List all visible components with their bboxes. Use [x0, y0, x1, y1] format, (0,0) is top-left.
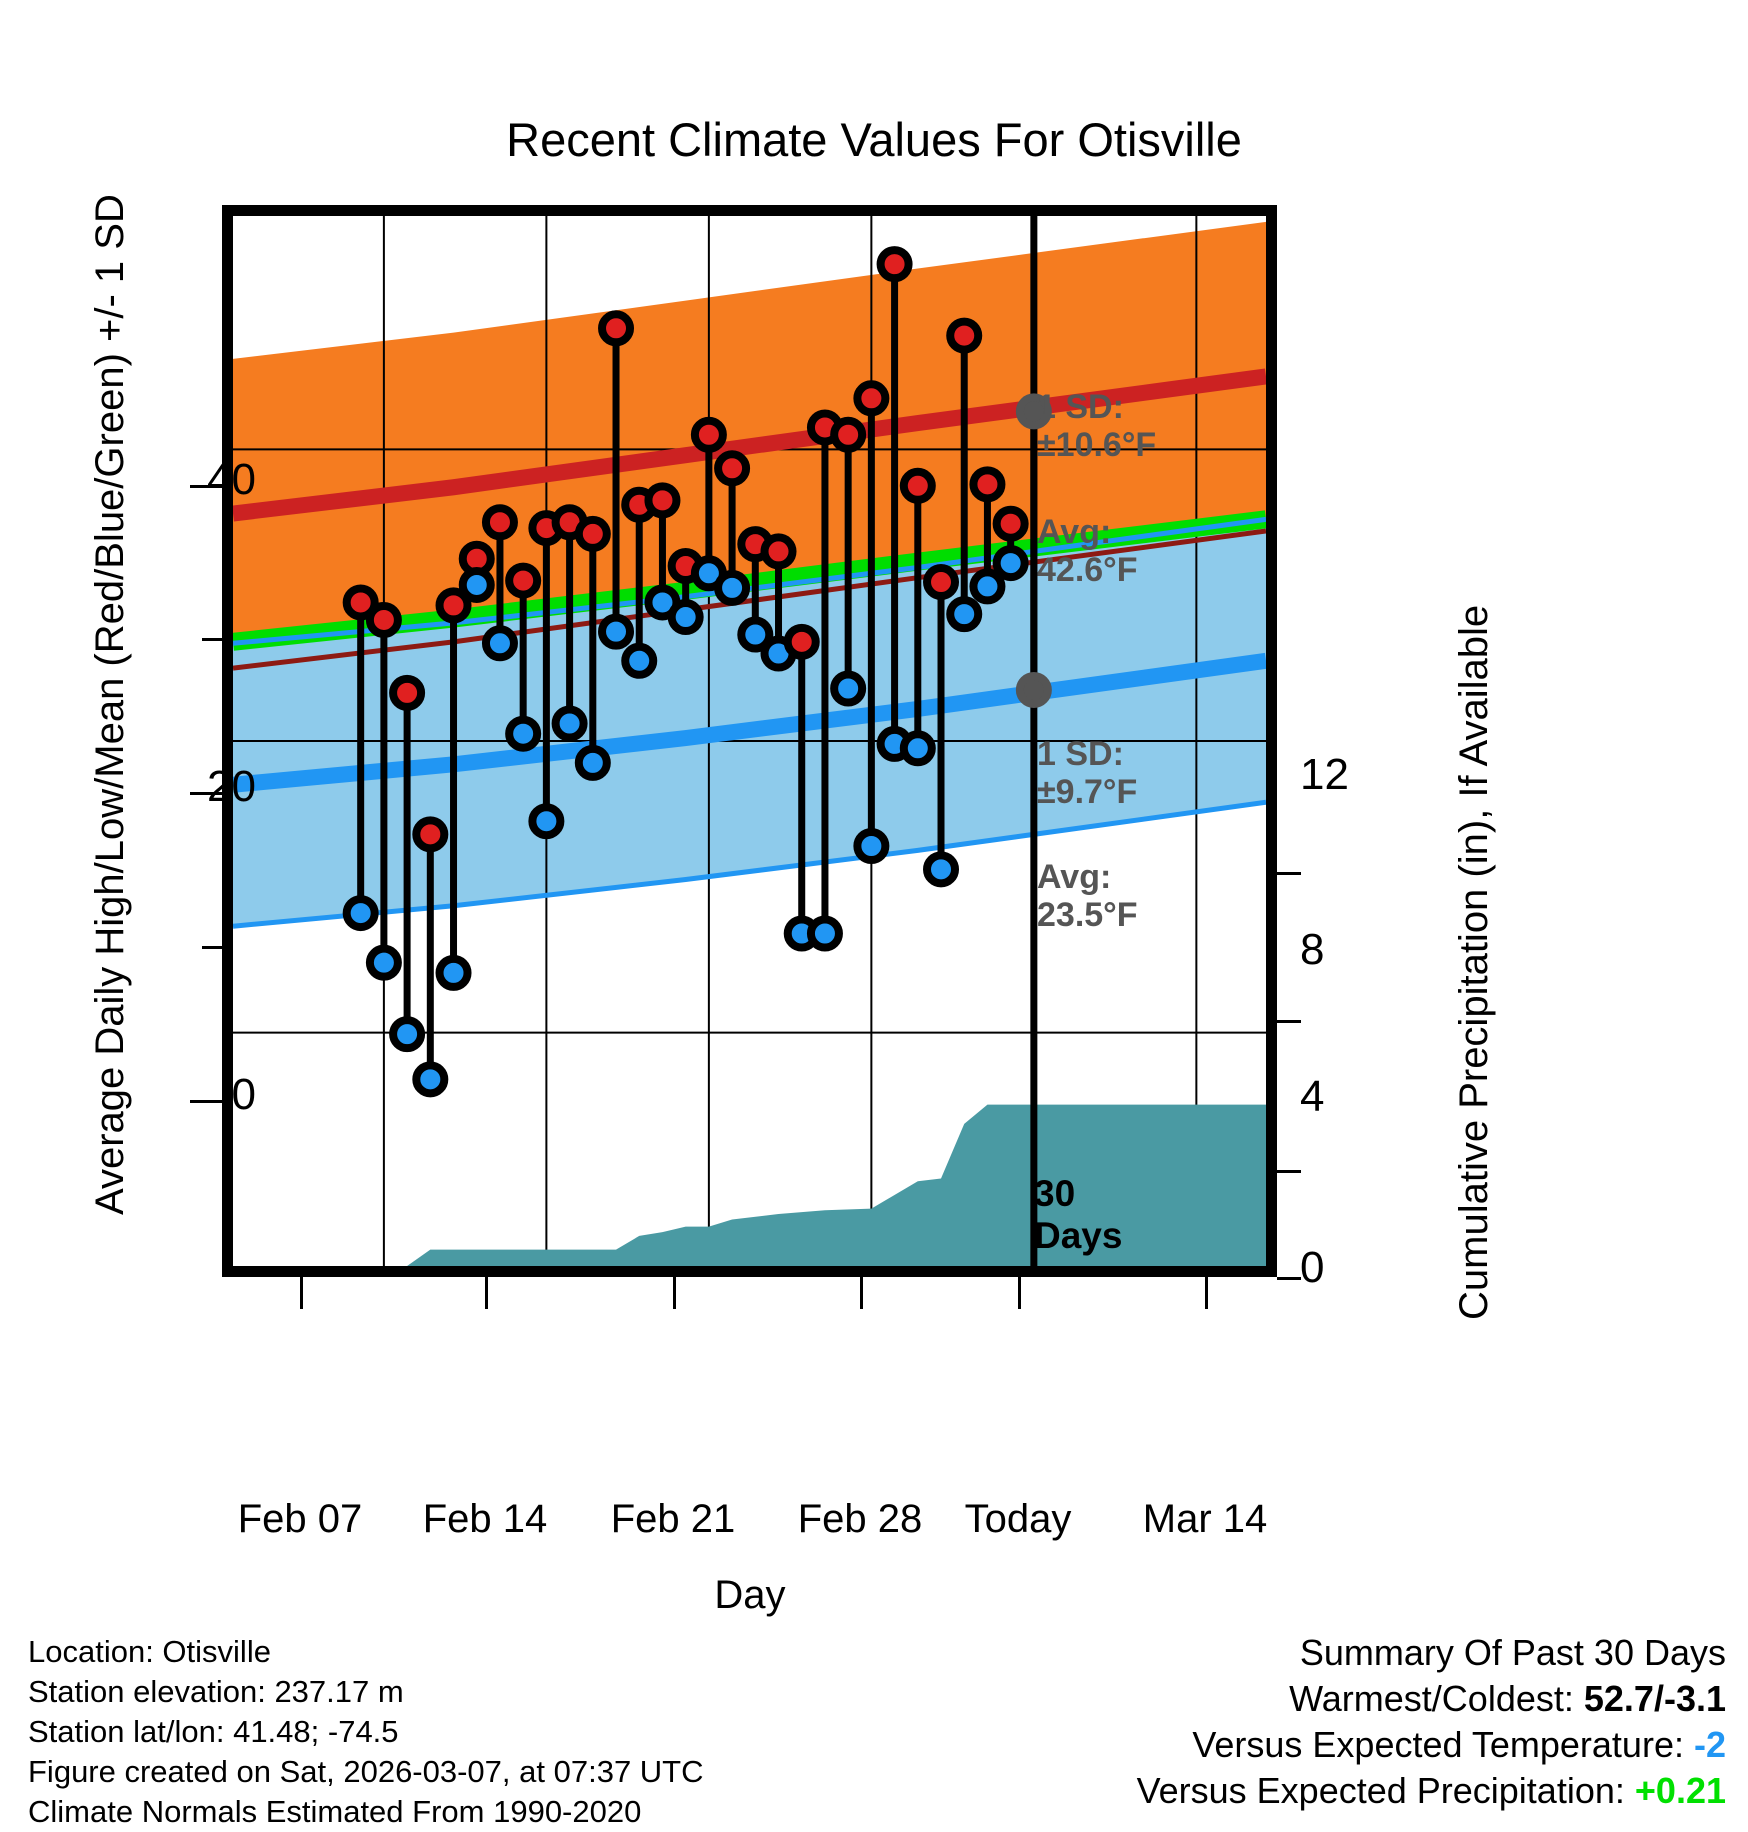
ytick-mark-right-4	[1277, 1170, 1301, 1173]
ytick-left-0: 0	[56, 1070, 256, 1120]
summary-label-warmest-coldest: Warmest/Coldest:	[1289, 1678, 1574, 1719]
annotation-low-avg: Avg: 23.5°F	[1037, 858, 1138, 934]
annotation-low-sd: 1 SD: ±9.7°F	[1037, 735, 1137, 811]
ytick-mark-right-8	[1277, 1020, 1301, 1023]
info-latlon: Station lat/lon: 41.48; -74.5	[28, 1712, 704, 1752]
summary-row-warmest-coldest: Warmest/Coldest: 52.7/-3.1	[1137, 1676, 1726, 1722]
xtick-feb14: Feb 14	[375, 1497, 595, 1542]
summary-label-vs-precipitation: Versus Expected Precipitation:	[1137, 1770, 1625, 1811]
info-normals: Climate Normals Estimated From 1990-2020	[28, 1792, 704, 1832]
figure-info: Location: Otisville Station elevation: 2…	[28, 1632, 704, 1832]
ytick-mark-left-20	[190, 792, 222, 795]
xtick-mark-today	[1018, 1277, 1021, 1309]
ytick-mark-left-40	[190, 485, 222, 488]
y-axis-label-right: Cumulative Precipitation (in), If Availa…	[1452, 605, 1497, 1320]
summary-value-vs-temperature: -2	[1694, 1724, 1726, 1765]
summary-value-vs-precipitation: +0.21	[1635, 1770, 1726, 1811]
summary-value-warmest-coldest: 52.7/-3.1	[1584, 1678, 1726, 1719]
summary-block: Summary Of Past 30 Days Warmest/Coldest:…	[1137, 1630, 1726, 1814]
info-elevation: Station elevation: 237.17 m	[28, 1672, 704, 1712]
xtick-mark-feb14	[485, 1277, 488, 1309]
xtick-mar14: Mar 14	[1095, 1497, 1315, 1542]
ytick-left-40: 40	[56, 455, 256, 505]
y-axis-label-left: Average Daily High/Low/Mean (Red/Blue/Gr…	[88, 194, 133, 1215]
summary-label-vs-temperature: Versus Expected Temperature:	[1192, 1724, 1684, 1765]
ytick-mark-left-0	[190, 1100, 222, 1103]
chart-title: Recent Climate Values For Otisville	[0, 112, 1748, 167]
info-location: Location: Otisville	[28, 1632, 704, 1672]
xtick-mark-feb21	[673, 1277, 676, 1309]
summary-row-vs-temperature: Versus Expected Temperature: -2	[1137, 1722, 1726, 1768]
ytick-mark-right-0	[1277, 1277, 1301, 1280]
ytick-right-8: 8	[1300, 925, 1420, 975]
ytick-left-20: 20	[56, 762, 256, 812]
info-created: Figure created on Sat, 2026-03-07, at 07…	[28, 1752, 704, 1792]
ytick-mark-right-12	[1277, 872, 1301, 875]
xtick-mark-feb28	[860, 1277, 863, 1309]
summary-heading: Summary Of Past 30 Days	[1137, 1630, 1726, 1676]
annotation-high-avg: Avg: 42.6°F	[1037, 513, 1138, 589]
ytick-right-4: 4	[1300, 1072, 1420, 1122]
annotation-precip-window: 30 Days	[1034, 1173, 1122, 1257]
summary-row-vs-precipitation: Versus Expected Precipitation: +0.21	[1137, 1768, 1726, 1814]
ytick-mark-left-10	[202, 946, 222, 949]
x-axis-label: Day	[0, 1573, 1500, 1618]
ytick-mark-left-30	[202, 638, 222, 641]
ytick-right-0: 0	[1300, 1243, 1420, 1293]
xtick-mark-feb07	[300, 1277, 303, 1309]
xtick-mark-mar14	[1205, 1277, 1208, 1309]
ytick-right-12: 12	[1300, 750, 1420, 800]
annotation-high-sd: 1 SD: ±10.6°F	[1037, 388, 1156, 464]
